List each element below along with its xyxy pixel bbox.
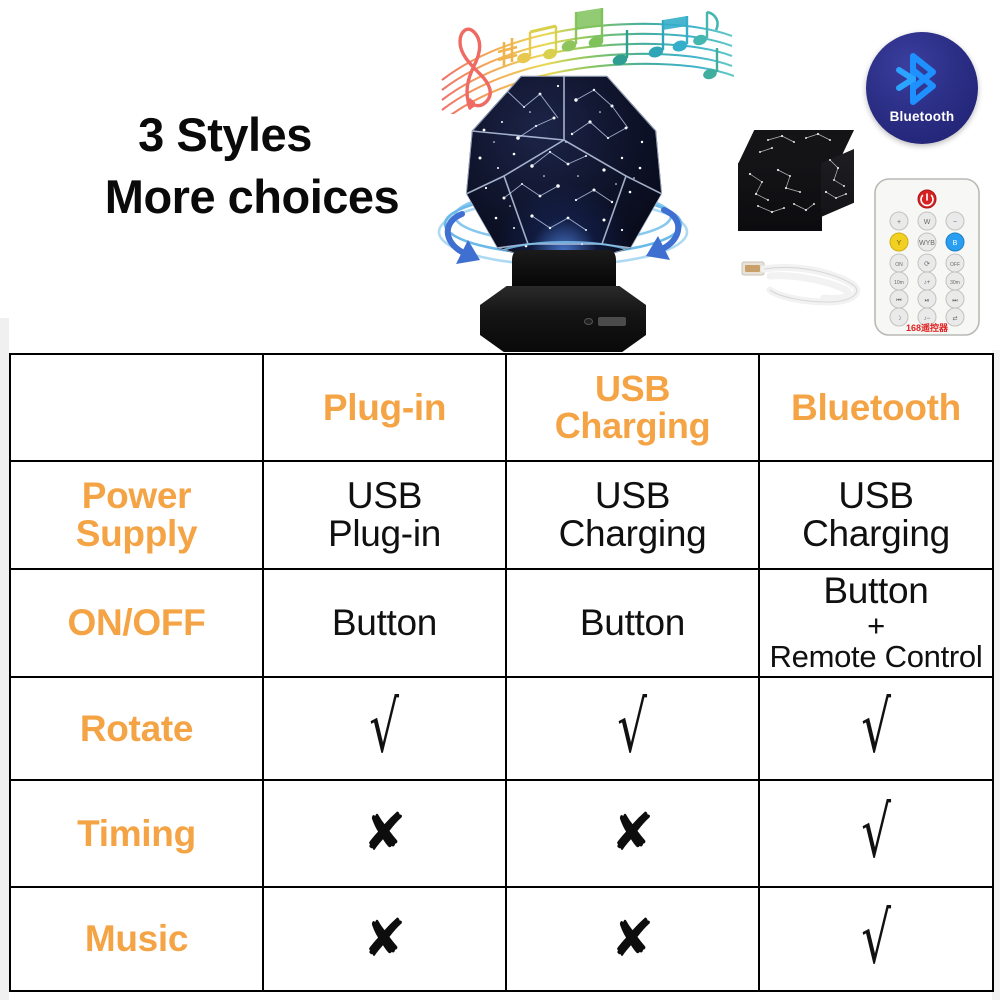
check-icon: √ [861,911,891,968]
row-label-on-off: ON/OFF [10,569,263,677]
gift-box-constellations [738,130,854,232]
check-icon: √ [618,700,648,757]
cell-timing-bluetooth: √ [759,780,993,887]
svg-text:⏮: ⏮ [896,298,902,304]
projector-globe [466,72,662,268]
cell-rotate-bluetooth: √ [759,677,993,780]
cell-timing-usb-charging: ✘ [506,780,759,887]
row-label-rotate: Rotate [10,677,263,780]
usb-cable [740,248,870,310]
svg-text:⇄: ⇄ [952,315,957,322]
row-label-power-supply: Power Supply [10,461,263,569]
cell-music-usb-charging: ✘ [506,887,759,991]
svg-text:30m: 30m [950,280,960,286]
cell-music-plugin: ✘ [263,887,506,991]
lamp-power-jack [584,318,593,325]
table-header-row: Plug-in USB Charging Bluetooth [10,354,993,461]
bluetooth-icon [893,46,951,112]
svg-text:B: B [953,240,958,247]
cell-onoff-plugin: Button [263,569,506,677]
product-comparison-infographic: 3 Styles More choices [0,0,1000,1000]
svg-text:⏯: ⏯ [925,298,930,304]
table-row: Rotate √ √ √ [10,677,993,780]
svg-text:OFF: OFF [950,262,960,268]
headline-line-1: 3 Styles [52,104,452,166]
cell-onoff-bluetooth: Button + Remote Control [759,569,993,677]
check-icon: √ [861,700,891,757]
table-row: ON/OFF Button Button Button + Remote Con… [10,569,993,677]
remote-control: +W− YWYBB ON⟳OFF 10m♪+30m ⏮⏯⏭ ☽♪−⇄ 168遥控… [872,177,982,337]
cell-music-bluetooth: √ [759,887,993,991]
cell-power-plugin: USB Plug-in [263,461,506,569]
table-row: Power Supply USB Plug-in USB Charging [10,461,993,569]
comparison-table: Plug-in USB Charging Bluetooth Power Sup [9,353,994,992]
cell-rotate-usb-charging: √ [506,677,759,780]
column-header-bluetooth: Bluetooth [759,354,993,461]
cell-rotate-plugin: √ [263,677,506,780]
left-edge-strip [0,318,9,1000]
headline-line-2: More choices [52,166,452,228]
column-header-plugin: Plug-in [263,354,506,461]
page-title: 3 Styles More choices [52,104,452,228]
onoff-bt-line3: Remote Control [764,641,988,674]
svg-text:ON: ON [895,262,903,268]
lamp-usb-port [598,317,626,326]
svg-text:♪−: ♪− [924,316,931,322]
cell-onoff-usb-charging: Button [506,569,759,677]
cell-timing-plugin: ✘ [263,780,506,887]
bluetooth-badge-label: Bluetooth [866,109,978,124]
column-header-usb-charging: USB Charging [506,354,759,461]
onoff-bt-plus: + [764,610,988,641]
svg-text:−: − [953,219,957,226]
svg-text:⏭: ⏭ [952,298,958,304]
cell-power-bluetooth: USB Charging [759,461,993,569]
hero-product-image: 3 Styles More choices [0,0,1000,352]
header-corner-cell [10,354,263,461]
usb-charging-line2: Charging [555,405,711,446]
svg-text:Y: Y [897,240,902,247]
svg-text:WYB: WYB [919,240,935,247]
svg-text:⟳: ⟳ [924,261,930,268]
check-icon: √ [861,805,891,862]
cell-power-usb-charging: USB Charging [506,461,759,569]
row-label-timing: Timing [10,780,263,887]
svg-text:♪+: ♪+ [924,280,931,286]
cross-icon: ✘ [363,810,407,857]
cross-icon: ✘ [611,810,655,857]
star-field [466,72,662,268]
check-icon: √ [370,700,400,757]
usb-charging-line1: USB [595,368,670,409]
svg-text:☽: ☽ [896,315,901,322]
svg-text:W: W [924,219,931,226]
row-label-music: Music [10,887,263,991]
cross-icon: ✘ [363,916,407,963]
bluetooth-badge: Bluetooth [866,32,978,144]
svg-text:+: + [897,219,901,226]
cross-icon: ✘ [611,916,655,963]
svg-text:10m: 10m [894,280,904,286]
table-row: Music ✘ ✘ √ [10,887,993,991]
star-projector-lamp [438,72,688,352]
onoff-bt-line1: Button [823,570,928,611]
remote-model-label: 168遥控器 [906,322,949,333]
constellation-gift-box [738,130,854,232]
table-row: Timing ✘ ✘ √ [10,780,993,887]
